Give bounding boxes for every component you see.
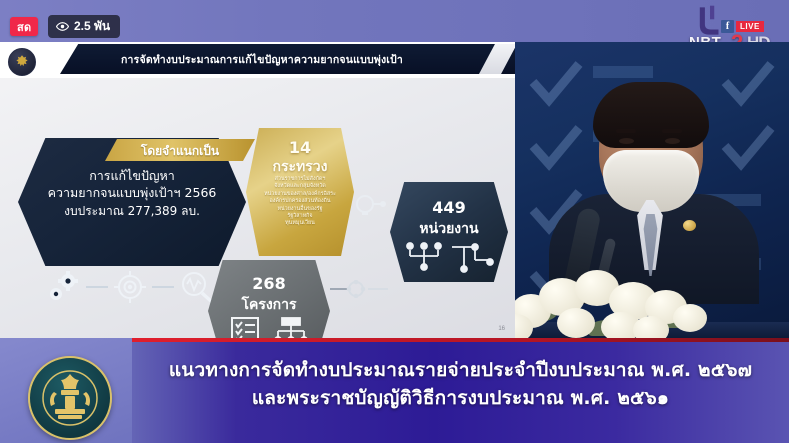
ministries-detail-item: ทุนหมุนเวียน xyxy=(252,220,348,227)
flowchart-icon xyxy=(452,244,493,272)
node-link-icon xyxy=(330,280,396,298)
org-chart-icon xyxy=(275,318,307,338)
lightbulb-gear-icon xyxy=(352,190,386,220)
banner-accent-line xyxy=(130,338,789,342)
lapel-pin xyxy=(683,220,696,231)
banner-line-2: และพระราชบัญญัติวิธีการงบประมาณ พ.ศ. ๒๕๖… xyxy=(132,384,789,412)
network-nodes-icon xyxy=(407,243,441,270)
ribbon-text: โดยจำแนกเป็น xyxy=(105,142,255,161)
eye-icon xyxy=(56,20,69,33)
ministries-details: ส่วนราชการไม่สังกัดฯ จังหวัดและกลุ่มจังห… xyxy=(252,176,348,228)
speaker-eye-left xyxy=(619,138,634,144)
speaker-eye-right xyxy=(665,138,680,144)
agencies-label: หน่วยงาน xyxy=(390,218,508,240)
main-hex-line1: การแก้ไขปัญหา xyxy=(18,167,246,184)
main-hexagon-text: การแก้ไขปัญหา ความยากจนแบบพุ่งเป้าฯ 2566… xyxy=(18,167,246,221)
gears-icon xyxy=(50,271,78,300)
garuda-seal-icon xyxy=(8,48,36,76)
main-hexagon-icons xyxy=(40,270,220,304)
broadcast-stage: การจัดทำงบประมาณการแก้ไขปัญหาความยากจนแบ… xyxy=(0,42,789,338)
ministries-label: กระทรวง xyxy=(246,156,354,178)
ministries-number: 14 xyxy=(246,138,354,157)
projects-number: 268 xyxy=(208,274,330,293)
presentation-slide: การจัดทำงบประมาณการแก้ไขปัญหาความยากจนแบ… xyxy=(0,42,515,338)
projects-label: โครงการ xyxy=(208,294,330,316)
viewer-count-badge: 2.5 พัน xyxy=(48,15,120,38)
slide-header: การจัดทำงบประมาณการแก้ไขปัญหาความยากจนแบ… xyxy=(0,42,515,78)
speaker-eyebrow-left xyxy=(616,129,636,133)
stream-frame: สด 2.5 พัน f LIVE NBT 2 xyxy=(0,0,789,443)
stream-top-bar: สด 2.5 พัน f LIVE NBT 2 xyxy=(0,0,789,42)
banner-line-1: แนวทางการจัดทำงบประมาณรายจ่ายประจำปีงบปร… xyxy=(132,356,789,384)
main-hex-line3: งบประมาณ 277,389 ลบ. xyxy=(18,201,246,221)
live-video-feed[interactable] xyxy=(515,42,789,338)
banner-text: แนวทางการจัดทำงบประมาณรายจ่ายประจำปีงบปร… xyxy=(132,356,789,412)
projects-icons xyxy=(228,316,312,338)
speaker-eyebrow-right xyxy=(662,129,682,133)
checklist-icon xyxy=(232,318,258,338)
slide-title: การจัดทำงบประมาณการแก้ไขปัญหาความยากจนแบ… xyxy=(72,51,452,68)
bureau-of-the-budget-emblem xyxy=(28,356,112,440)
live-badge: สด xyxy=(10,17,38,36)
viewer-count-label: 2.5 พัน xyxy=(74,17,110,36)
ministries-detail-item: จังหวัดและกลุ่มจังหวัด xyxy=(252,183,348,190)
flower-arrangement xyxy=(515,260,755,338)
main-hex-line2: ความยากจนแบบพุ่งเป้าฯ 2566 xyxy=(18,184,246,201)
ministries-detail-item: องค์กรปกครองส่วนท้องถิ่น xyxy=(252,198,348,205)
slide-page-number: 16 xyxy=(498,326,505,332)
agencies-number: 449 xyxy=(390,198,508,217)
ministries-detail-item: หน่วยงานอื่นของรัฐ xyxy=(252,206,348,213)
speaker-hair xyxy=(593,82,709,148)
ribbon-label: โดยจำแนกเป็น xyxy=(105,139,255,161)
agencies-icons xyxy=(404,242,496,274)
